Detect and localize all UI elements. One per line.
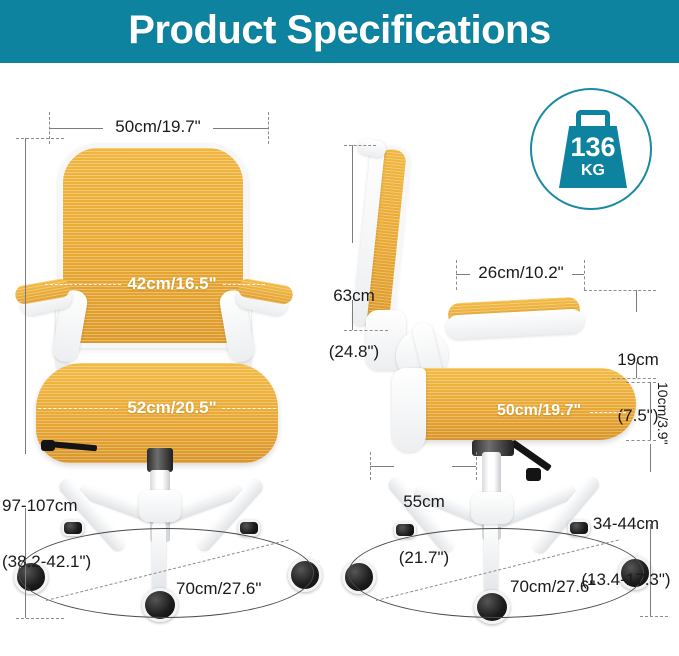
dim-side-seat-height: 34-44cm (13.4-17.3") <box>572 478 679 628</box>
front-base-hub <box>139 490 181 522</box>
side-base-hub <box>471 492 513 524</box>
guide-front-width-bar-left <box>49 128 103 129</box>
dim-side-back-height-line2: (24.8") <box>318 343 390 362</box>
guide-front-height-line-upper <box>25 138 26 454</box>
dim-front-total-height-line1: 97-107cm <box>2 497 142 516</box>
side-seat-front-shell <box>392 368 426 452</box>
product-specification-image: Product Specifications 136 KG <box>0 0 679 656</box>
dim-side-armrest-length: 26cm/10.2" <box>468 264 574 283</box>
guide-front-height-bottom <box>16 618 64 619</box>
dim-side-base-depth-line2: (21.7") <box>388 549 460 568</box>
side-backrest-top-cap <box>357 137 388 158</box>
guide-front-seat-width-left <box>38 408 118 409</box>
guide-side-armlen-right <box>584 260 585 290</box>
dim-side-base-diameter: 70cm/27.6" <box>510 578 636 597</box>
dim-side-seat-height-line1: 34-44cm <box>572 515 679 534</box>
guide-side-backheight-top <box>344 145 376 146</box>
dim-side-back-height-line1: 63cm <box>318 287 390 306</box>
dim-front-base-diameter: 70cm/27.6" <box>176 580 302 599</box>
side-height-lever <box>510 439 552 471</box>
guide-side-armheight-top <box>584 290 656 291</box>
guide-side-armlen-left <box>456 260 457 290</box>
guide-front-width-right <box>268 112 269 144</box>
guide-side-backheight-line-upper <box>352 145 353 243</box>
dim-front-seat-width: 52cm/20.5" <box>120 399 224 418</box>
front-gas-cylinder-top <box>147 448 173 472</box>
guide-side-seatheight-line-upper <box>650 444 651 472</box>
dim-side-seat-depth: 50cm/19.7" <box>484 402 594 420</box>
guide-front-height-top <box>16 138 64 139</box>
guide-side-basedepth-left <box>370 452 371 480</box>
dim-side-base-depth: 55cm (21.7") <box>388 456 460 606</box>
guide-front-inner-width-left <box>45 284 121 285</box>
dim-front-back-width-inner: 42cm/16.5" <box>122 275 222 294</box>
dim-side-back-height: 63cm (24.8") <box>318 250 390 400</box>
guide-side-armheight-line-upper <box>636 290 637 312</box>
dim-front-back-width-outer: 50cm/19.7" <box>105 118 211 137</box>
front-height-lever-knob <box>41 440 55 451</box>
guide-front-inner-width-right <box>223 284 265 285</box>
guide-side-seatthick-bottom <box>626 440 656 441</box>
guide-side-seatthick-top <box>626 382 656 383</box>
dim-front-total-height: 97-107cm (38.2-42.1") <box>2 460 142 610</box>
dim-side-seat-thickness: 10cm/3.9" <box>655 382 670 444</box>
guide-side-seatdepth-line <box>590 412 626 413</box>
dim-side-armrest-height-line1: 19cm <box>602 351 674 370</box>
guide-side-basedepth-right <box>476 452 477 480</box>
guide-front-width-bar-right <box>213 128 268 129</box>
dim-side-base-depth-line1: 55cm <box>388 493 460 512</box>
dim-front-total-height-line2: (38.2-42.1") <box>2 553 142 572</box>
guide-side-seatthick-line <box>650 382 651 440</box>
guide-front-seat-width-right <box>222 408 276 409</box>
side-height-lever-knob <box>526 468 541 481</box>
front-backrest <box>58 143 248 348</box>
